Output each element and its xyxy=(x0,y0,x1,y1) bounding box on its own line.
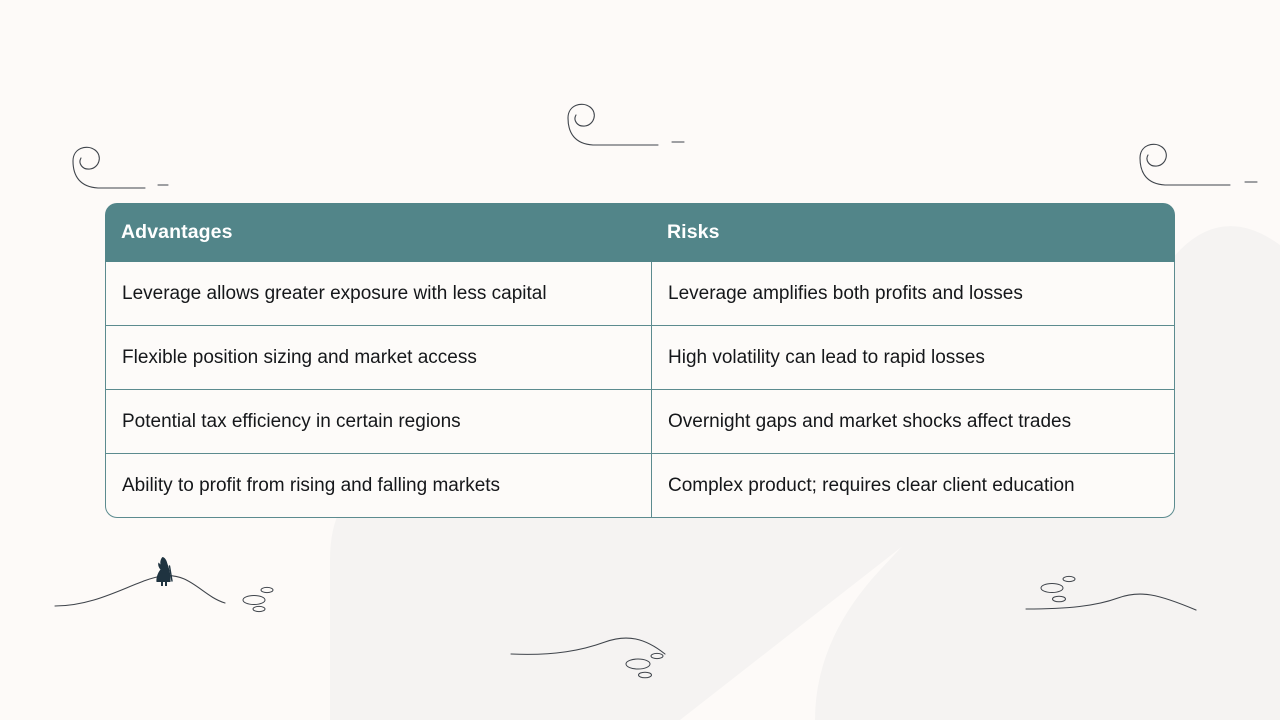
swirl-path xyxy=(73,147,99,169)
pebble-large xyxy=(626,659,650,669)
walking-stick xyxy=(170,566,173,581)
swirl-tail xyxy=(568,118,658,145)
cell-advantages: Potential tax efficiency in certain regi… xyxy=(105,390,651,454)
column-header-advantages: Advantages xyxy=(105,203,651,262)
table-header-row: Advantages Risks xyxy=(105,203,1175,262)
cell-advantages: Leverage allows greater exposure with le… xyxy=(105,262,651,326)
hill-curve xyxy=(1026,594,1196,610)
table-header: Advantages Risks xyxy=(105,203,1175,262)
cell-risks: Leverage amplifies both profits and loss… xyxy=(651,262,1175,326)
swirl-path xyxy=(1140,144,1166,166)
slide-canvas: Advantages Risks Leverage allows greater… xyxy=(0,0,1280,720)
pebble-large xyxy=(243,596,265,605)
pebble-small-top xyxy=(1063,576,1075,581)
scene-hill-center xyxy=(505,628,735,698)
pebble-small-bottom xyxy=(1053,596,1066,602)
scene-hill-right xyxy=(1018,568,1248,638)
swirl-path xyxy=(568,104,594,126)
table-row: Flexible position sizing and market acce… xyxy=(105,326,1175,390)
scene-hill-with-figure xyxy=(50,548,280,618)
cell-advantages: Ability to profit from rising and fallin… xyxy=(105,454,651,518)
flourish-swirl-center xyxy=(560,96,690,154)
cell-risks: Complex product; requires clear client e… xyxy=(651,454,1175,518)
comparison-table-container: Advantages Risks Leverage allows greater… xyxy=(105,203,1175,518)
column-header-risks: Risks xyxy=(651,203,1175,262)
swirl-tail xyxy=(73,161,145,188)
flourish-swirl-left xyxy=(40,138,170,196)
cell-risks: Overnight gaps and market shocks affect … xyxy=(651,390,1175,454)
hill-curve xyxy=(55,576,225,606)
pebble-small-bottom xyxy=(639,672,652,678)
table-body: Leverage allows greater exposure with le… xyxy=(105,262,1175,518)
swirl-tail xyxy=(1140,158,1230,185)
pebble-small-top xyxy=(651,653,663,658)
table-row: Leverage allows greater exposure with le… xyxy=(105,262,1175,326)
comparison-table: Advantages Risks Leverage allows greater… xyxy=(105,203,1175,518)
pebble-small-bottom xyxy=(253,606,265,611)
cell-risks: High volatility can lead to rapid losses xyxy=(651,326,1175,390)
flourish-swirl-right xyxy=(1132,136,1262,194)
table-row: Ability to profit from rising and fallin… xyxy=(105,454,1175,518)
cell-advantages: Flexible position sizing and market acce… xyxy=(105,326,651,390)
hill-curve xyxy=(511,638,665,654)
pebble-small-top xyxy=(261,587,273,592)
figure-silhouette xyxy=(156,557,170,586)
table-row: Potential tax efficiency in certain regi… xyxy=(105,390,1175,454)
pebble-large xyxy=(1041,584,1063,593)
